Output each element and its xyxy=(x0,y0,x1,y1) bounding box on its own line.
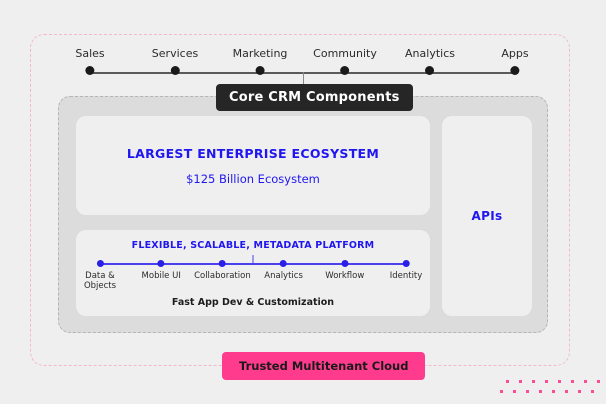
timeline-dot-icon xyxy=(219,260,226,267)
timeline-dot-icon xyxy=(340,66,349,75)
ecosystem-card[interactable]: LARGEST ENTERPRISE ECOSYSTEM $125 Billio… xyxy=(76,116,430,215)
timeline-dot-icon xyxy=(425,66,434,75)
decorative-dot xyxy=(539,390,542,393)
top-timeline-node-label: Apps xyxy=(501,48,528,60)
trusted-multitenant-cloud-badge[interactable]: Trusted Multitenant Cloud xyxy=(222,352,425,380)
decorative-dot xyxy=(571,380,574,383)
platform-timeline-node[interactable]: Mobile UI xyxy=(142,260,181,281)
decorative-dot xyxy=(578,390,581,393)
decorative-dot xyxy=(519,380,522,383)
timeline-dot-icon xyxy=(341,260,348,267)
core-components-panel: LARGEST ENTERPRISE ECOSYSTEM $125 Billio… xyxy=(58,96,548,333)
top-timeline-node-label: Sales xyxy=(75,48,104,60)
platform-timeline-node[interactable]: Identity xyxy=(390,260,423,281)
ecosystem-subtitle: $125 Billion Ecosystem xyxy=(186,172,320,186)
top-timeline-node[interactable]: Marketing xyxy=(233,48,288,82)
decorative-dot xyxy=(565,390,568,393)
core-crm-components-badge[interactable]: Core CRM Components xyxy=(216,84,413,111)
platform-timeline: Data &ObjectsMobile UICollaborationAnaly… xyxy=(100,260,406,292)
decorative-dot xyxy=(506,380,509,383)
timeline-dot-icon xyxy=(280,260,287,267)
top-timeline-node-label: Marketing xyxy=(233,48,288,60)
platform-timeline-node[interactable]: Data &Objects xyxy=(84,260,116,291)
top-timeline-node-label: Community xyxy=(313,48,377,60)
apis-label: APIs xyxy=(472,209,503,223)
platform-timeline-node-label: Workflow xyxy=(325,271,364,281)
platform-timeline-node[interactable]: Workflow xyxy=(325,260,364,281)
decorative-dot xyxy=(558,380,561,383)
platform-timeline-node[interactable]: Collaboration xyxy=(194,260,251,281)
timeline-dot-icon xyxy=(86,66,95,75)
timeline-dot-icon xyxy=(97,260,104,267)
decorative-dot xyxy=(513,390,516,393)
decorative-dot xyxy=(532,380,535,383)
timeline-dot-icon xyxy=(402,260,409,267)
platform-timeline-node-label: Mobile UI xyxy=(142,271,181,281)
platform-timeline-node-label: Data &Objects xyxy=(84,271,116,291)
decorative-dot xyxy=(545,380,548,383)
decorative-dot xyxy=(552,390,555,393)
top-timeline-node-label: Analytics xyxy=(405,48,455,60)
platform-timeline-node-label: Collaboration xyxy=(194,271,251,281)
platform-card[interactable]: FLEXIBLE, SCALABLE, METADATA PLATFORM Da… xyxy=(76,230,430,316)
platform-timeline-node-label: Analytics xyxy=(264,271,303,281)
top-timeline-node[interactable]: Services xyxy=(152,48,198,82)
platform-timeline-node-label-line2: Objects xyxy=(84,281,116,291)
top-timeline-node[interactable]: Sales xyxy=(75,48,104,82)
top-timeline-node[interactable]: Community xyxy=(313,48,377,82)
decorative-dot xyxy=(526,390,529,393)
timeline-dot-icon xyxy=(255,66,264,75)
platform-timeline-tick xyxy=(253,255,254,265)
platform-timeline-node[interactable]: Analytics xyxy=(264,260,303,281)
decorative-dot xyxy=(500,390,503,393)
platform-title: FLEXIBLE, SCALABLE, METADATA PLATFORM xyxy=(76,240,430,251)
ecosystem-title: LARGEST ENTERPRISE ECOSYSTEM xyxy=(127,146,379,161)
top-timeline-node[interactable]: Apps xyxy=(501,48,528,82)
top-timeline-node[interactable]: Analytics xyxy=(405,48,455,82)
apis-card[interactable]: APIs xyxy=(442,116,532,316)
decorative-dot-grid xyxy=(500,380,606,404)
decorative-dot xyxy=(591,390,594,393)
decorative-dot xyxy=(597,380,600,383)
platform-timeline-node-label: Identity xyxy=(390,271,423,281)
decorative-dot xyxy=(584,380,587,383)
timeline-dot-icon xyxy=(510,66,519,75)
top-timeline-node-label: Services xyxy=(152,48,198,60)
timeline-dot-icon xyxy=(170,66,179,75)
platform-footer: Fast App Dev & Customization xyxy=(76,297,430,308)
timeline-dot-icon xyxy=(158,260,165,267)
